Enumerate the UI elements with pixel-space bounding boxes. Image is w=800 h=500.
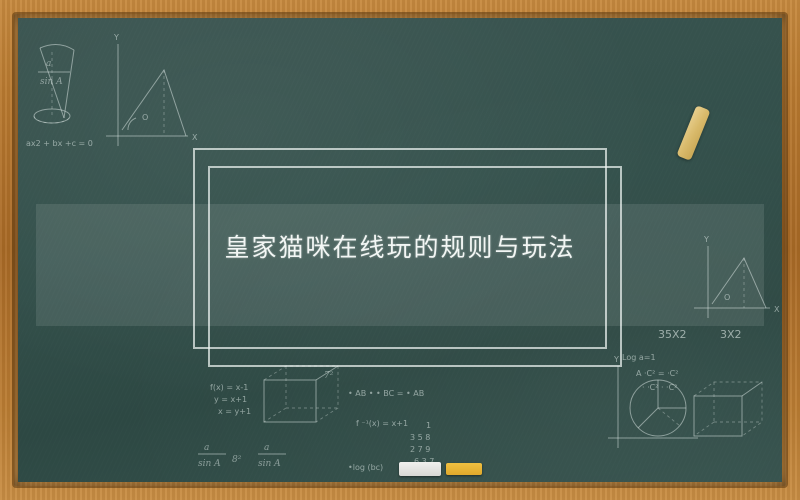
svg-text:f ⁻¹(x) = x+1: f ⁻¹(x) = x+1	[356, 419, 408, 428]
svg-text:Log a=1: Log a=1	[622, 353, 656, 362]
svg-text:sin A: sin A	[258, 459, 281, 469]
board-eraser-icon	[399, 462, 441, 476]
svg-text:X: X	[774, 305, 780, 314]
svg-text:x = y+1: x = y+1	[218, 407, 251, 416]
ledge-chalk-icon	[446, 463, 482, 475]
svg-text:3X2: 3X2	[720, 328, 742, 341]
svg-text:y = x+1: y = x+1	[214, 395, 247, 404]
svg-text:a: a	[46, 59, 51, 69]
chalkboard-banner: a sin A ax2 + bx +c = 0 Y X O	[0, 0, 800, 500]
svg-text:7²: 7²	[324, 371, 334, 381]
chalk-stick-icon	[676, 105, 710, 161]
svg-text:8²: 8²	[232, 455, 242, 465]
svg-text:1: 1	[426, 421, 431, 430]
svg-text:A ·C² = ·C²: A ·C² = ·C²	[636, 369, 678, 378]
svg-text:35X2: 35X2	[658, 328, 687, 341]
svg-text:X: X	[192, 133, 198, 142]
doodle-cube-bottom-left	[264, 366, 338, 422]
doodle-cone-top-left	[34, 44, 74, 123]
doodle-pie-bottom-right: Y	[608, 355, 698, 448]
svg-text:2 7 9: 2 7 9	[410, 445, 430, 454]
svg-text:O: O	[142, 113, 148, 122]
svg-text:a: a	[204, 443, 209, 453]
svg-text:sin A: sin A	[198, 459, 221, 469]
svg-text:· ·C² · ·C²: · ·C² · ·C²	[642, 383, 677, 392]
doodle-cube-bottom-right	[694, 382, 762, 436]
svg-text:Y: Y	[113, 33, 119, 42]
svg-text:Y: Y	[613, 355, 619, 364]
svg-text:3 5 8: 3 5 8	[410, 433, 430, 442]
page-title: 皇家猫咪在线玩的规则与玩法	[0, 228, 800, 264]
svg-text:a: a	[264, 443, 269, 453]
svg-text:f(x) = x-1: f(x) = x-1	[210, 383, 248, 392]
svg-text:ax2 + bx +c = 0: ax2 + bx +c = 0	[26, 139, 93, 148]
svg-text:• AB • • BC = • AB: • AB • • BC = • AB	[348, 389, 424, 398]
svg-text:sin A: sin A	[40, 77, 63, 87]
svg-text:•log (bc): •log (bc)	[348, 463, 383, 472]
doodle-axes-top-left: Y X O	[106, 33, 198, 146]
title-highlight-band	[36, 204, 764, 326]
